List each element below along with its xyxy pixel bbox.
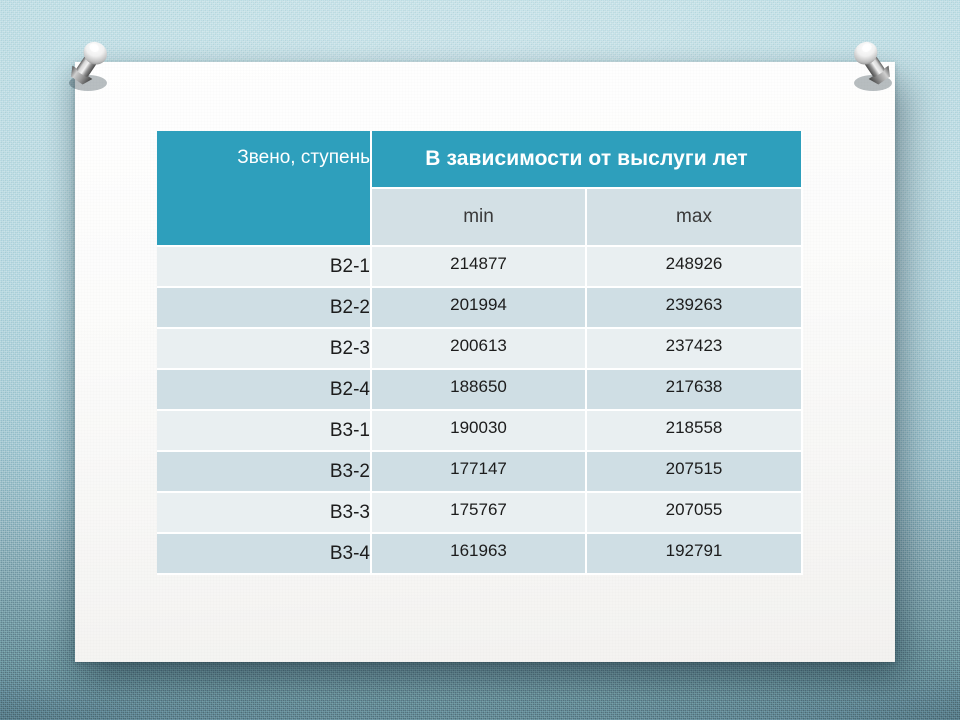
cell-grade: В2-3 — [157, 329, 372, 370]
cell-min: 161963 — [372, 534, 587, 575]
cell-min: 177147 — [372, 452, 587, 493]
table-row: В3-3175767207055 — [157, 493, 803, 534]
table-row: В3-4161963192791 — [157, 534, 803, 575]
cell-min-value: 190030 — [372, 418, 585, 438]
cell-max: 207515 — [587, 452, 803, 493]
cell-max-value: 192791 — [587, 541, 801, 561]
cell-min: 214877 — [372, 247, 587, 288]
column-header-grade: Звено, ступень — [157, 131, 372, 247]
cell-min-value: 161963 — [372, 541, 585, 561]
cell-max-value: 217638 — [587, 377, 801, 397]
cell-min: 200613 — [372, 329, 587, 370]
cell-max-value: 239263 — [587, 295, 801, 315]
cell-max: 192791 — [587, 534, 803, 575]
cell-grade: В3-2 — [157, 452, 372, 493]
cell-min-value: 177147 — [372, 459, 585, 479]
cell-max: 248926 — [587, 247, 803, 288]
table-header-row-1: Звено, ступень В зависимости от выслуги … — [157, 131, 803, 189]
cell-max: 239263 — [587, 288, 803, 329]
cell-min-value: 188650 — [372, 377, 585, 397]
column-header-grade-label: Звено, ступень — [157, 131, 370, 169]
cell-min-value: 175767 — [372, 500, 585, 520]
table-row: В2-1214877248926 — [157, 247, 803, 288]
table-row: В2-2201994239263 — [157, 288, 803, 329]
table-row: В2-4188650217638 — [157, 370, 803, 411]
salary-table-container: Звено, ступень В зависимости от выслуги … — [157, 131, 803, 575]
column-header-group-title: В зависимости от выслуги лет — [372, 131, 803, 189]
table-row: В3-1190030218558 — [157, 411, 803, 452]
cell-min: 188650 — [372, 370, 587, 411]
column-header-max: max — [587, 189, 803, 247]
cell-min-value: 201994 — [372, 295, 585, 315]
cell-max: 207055 — [587, 493, 803, 534]
cell-max: 217638 — [587, 370, 803, 411]
cell-max-value: 207515 — [587, 459, 801, 479]
cell-max-value: 248926 — [587, 254, 801, 274]
cell-grade: В2-2 — [157, 288, 372, 329]
cell-grade: В2-4 — [157, 370, 372, 411]
cell-max: 237423 — [587, 329, 803, 370]
table-row: В3-2177147207515 — [157, 452, 803, 493]
cell-min-value: 200613 — [372, 336, 585, 356]
cell-max-value: 218558 — [587, 418, 801, 438]
column-header-min: min — [372, 189, 587, 247]
table-row: В2-3200613237423 — [157, 329, 803, 370]
table-body: В2-1214877248926В2-2201994239263В2-32006… — [157, 247, 803, 575]
cell-grade: В3-3 — [157, 493, 372, 534]
cell-min-value: 214877 — [372, 254, 585, 274]
cell-min: 201994 — [372, 288, 587, 329]
table-header: Звено, ступень В зависимости от выслуги … — [157, 131, 803, 247]
cell-max-value: 207055 — [587, 500, 801, 520]
cell-min: 175767 — [372, 493, 587, 534]
cell-max: 218558 — [587, 411, 803, 452]
salary-table: Звено, ступень В зависимости от выслуги … — [157, 131, 803, 575]
cell-max-value: 237423 — [587, 336, 801, 356]
cell-min: 190030 — [372, 411, 587, 452]
cell-grade: В3-1 — [157, 411, 372, 452]
cell-grade: В2-1 — [157, 247, 372, 288]
cell-grade: В3-4 — [157, 534, 372, 575]
